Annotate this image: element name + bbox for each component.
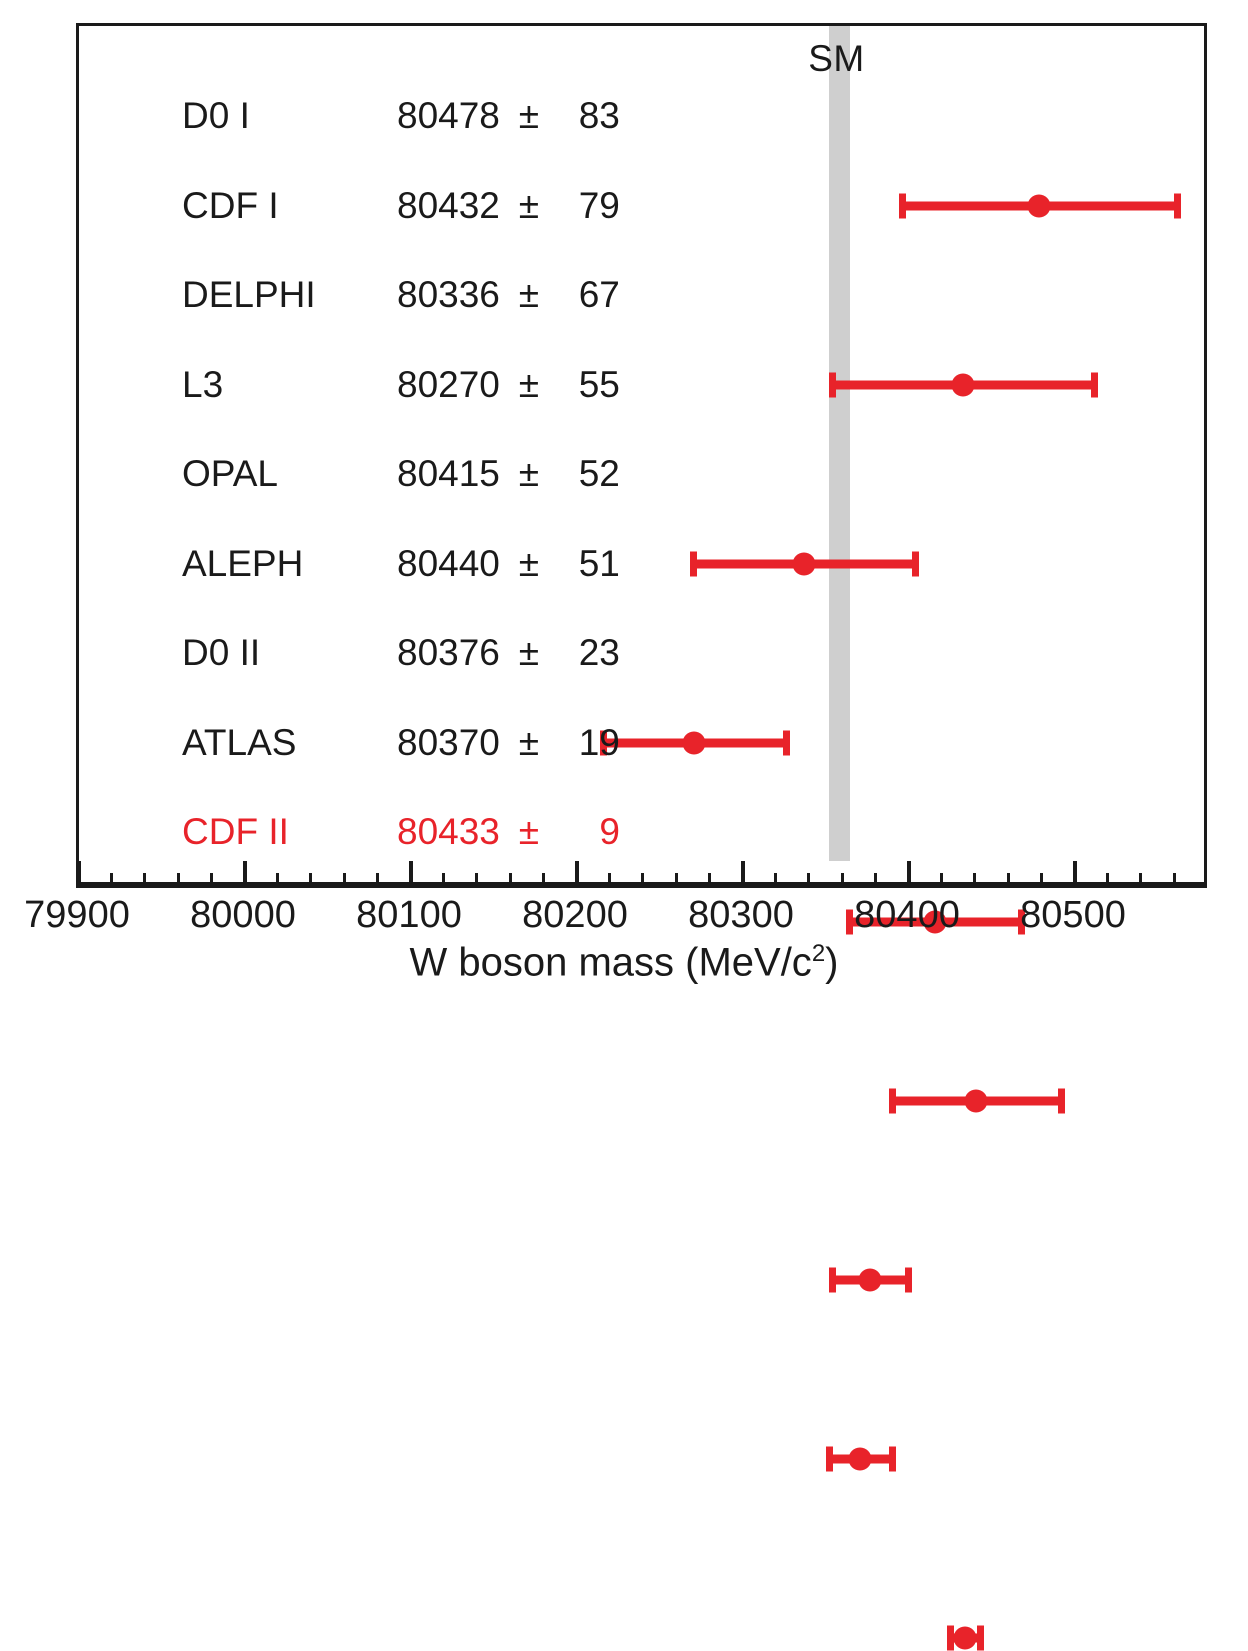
plus-minus-symbol: ± xyxy=(500,632,558,674)
error-bar-cap-left xyxy=(889,1089,896,1114)
error-bar-cap-right xyxy=(783,731,790,756)
x-tick-minor xyxy=(1007,873,1010,888)
x-tick-major xyxy=(575,861,579,888)
x-tick-minor xyxy=(210,873,213,888)
x-tick-label: 80300 xyxy=(688,894,794,937)
plus-minus-symbol: ± xyxy=(500,811,558,853)
x-tick-major xyxy=(1073,861,1077,888)
mass-value: 80432 xyxy=(397,185,500,226)
uncertainty-value: 83 xyxy=(558,95,620,137)
x-tick-minor xyxy=(774,873,777,888)
x-tick-label: 80400 xyxy=(854,894,960,937)
data-point-marker xyxy=(792,553,815,576)
x-tick-minor xyxy=(841,873,844,888)
data-point-marker xyxy=(965,1090,988,1113)
plus-minus-symbol: ± xyxy=(500,453,558,495)
x-tick-minor xyxy=(309,873,312,888)
x-tick-minor xyxy=(376,873,379,888)
x-tick-minor xyxy=(1139,873,1142,888)
x-tick-minor xyxy=(708,873,711,888)
mass-value: 80376 xyxy=(397,632,500,673)
x-tick-major xyxy=(77,861,81,888)
error-bar-cap-right xyxy=(1091,373,1098,398)
x-tick-label: 80000 xyxy=(190,894,296,937)
chart-root: D0 I80478±83CDF I80432±79DELPHI80336±67L… xyxy=(0,0,1248,1023)
measurement-value: 80440±51 xyxy=(397,543,620,585)
measurement-value: 80415±52 xyxy=(397,453,620,495)
data-point-marker xyxy=(952,374,975,397)
experiment-label: ALEPH xyxy=(182,543,303,585)
uncertainty-value: 19 xyxy=(558,722,620,764)
x-tick-minor xyxy=(874,873,877,888)
measurement-value: 80478±83 xyxy=(397,95,620,137)
experiment-label: CDF I xyxy=(182,185,279,227)
plus-minus-symbol: ± xyxy=(500,722,558,764)
x-tick-minor xyxy=(973,873,976,888)
x-tick-major xyxy=(243,861,247,888)
x-tick-minor xyxy=(675,873,678,888)
data-point-marker xyxy=(859,1269,882,1292)
x-tick-minor xyxy=(509,873,512,888)
experiment-label: ATLAS xyxy=(182,722,296,764)
x-tick-minor xyxy=(940,873,943,888)
mass-value: 80440 xyxy=(397,543,500,584)
sm-band-label: SM xyxy=(736,38,936,80)
data-point-marker xyxy=(1028,195,1051,218)
mass-value: 80478 xyxy=(397,95,500,136)
error-bar-cap-right xyxy=(977,1626,984,1651)
error-bar-cap-left xyxy=(899,194,906,219)
error-bar-cap-left xyxy=(829,373,836,398)
plus-minus-symbol: ± xyxy=(500,95,558,137)
error-bar-cap-left xyxy=(826,1447,833,1472)
x-tick-minor xyxy=(343,873,346,888)
measurement-value: 80432±79 xyxy=(397,185,620,227)
plus-minus-symbol: ± xyxy=(500,274,558,316)
experiment-label: D0 II xyxy=(182,632,260,674)
uncertainty-value: 55 xyxy=(558,364,620,406)
mass-value: 80370 xyxy=(397,722,500,763)
plus-minus-symbol: ± xyxy=(500,543,558,585)
sm-theory-band xyxy=(829,26,851,861)
x-tick-minor xyxy=(442,873,445,888)
x-tick-label: 80500 xyxy=(1020,894,1126,937)
measurement-value: 80376±23 xyxy=(397,632,620,674)
uncertainty-value: 67 xyxy=(558,274,620,316)
uncertainty-value: 79 xyxy=(558,185,620,227)
measurement-value: 80336±67 xyxy=(397,274,620,316)
x-tick-label: 80200 xyxy=(522,894,628,937)
x-tick-minor xyxy=(110,873,113,888)
x-tick-major xyxy=(741,861,745,888)
error-bar-cap-left xyxy=(829,1268,836,1293)
error-bar-cap-left xyxy=(846,910,853,935)
x-tick-minor xyxy=(807,873,810,888)
mass-value: 80336 xyxy=(397,274,500,315)
x-tick-minor xyxy=(641,873,644,888)
x-tick-minor xyxy=(1040,873,1043,888)
x-axis xyxy=(76,882,1207,888)
error-bar-cap-left xyxy=(690,552,697,577)
uncertainty-value: 23 xyxy=(558,632,620,674)
x-tick-label: 79900 xyxy=(24,894,130,937)
x-tick-minor xyxy=(608,873,611,888)
x-tick-minor xyxy=(276,873,279,888)
measurement-value: 80433±9 xyxy=(397,811,620,853)
data-point-marker xyxy=(953,1627,976,1650)
error-bar-cap-right xyxy=(912,552,919,577)
x-tick-minor xyxy=(542,873,545,888)
x-axis-title-superscript: 2 xyxy=(812,940,825,967)
experiment-label: DELPHI xyxy=(182,274,316,316)
plot-frame: D0 I80478±83CDF I80432±79DELPHI80336±67L… xyxy=(76,23,1207,885)
error-bar-cap-right xyxy=(905,1268,912,1293)
x-tick-minor xyxy=(475,873,478,888)
experiment-label: OPAL xyxy=(182,453,278,495)
x-tick-minor xyxy=(143,873,146,888)
measurement-value: 80370±19 xyxy=(397,722,620,764)
error-bar-cap-right xyxy=(1058,1089,1065,1114)
plus-minus-symbol: ± xyxy=(500,364,558,406)
experiment-label: D0 I xyxy=(182,95,250,137)
x-tick-minor xyxy=(1173,873,1176,888)
plus-minus-symbol: ± xyxy=(500,185,558,227)
mass-value: 80433 xyxy=(397,811,500,852)
x-tick-minor xyxy=(1106,873,1109,888)
x-tick-label: 80100 xyxy=(356,894,462,937)
x-axis-title-base: W boson mass (MeV/c xyxy=(409,940,811,984)
x-tick-minor xyxy=(177,873,180,888)
mass-value: 80415 xyxy=(397,453,500,494)
uncertainty-value: 9 xyxy=(558,811,620,853)
x-tick-major xyxy=(409,861,413,888)
uncertainty-value: 51 xyxy=(558,543,620,585)
error-bar-cap-right xyxy=(889,1447,896,1472)
x-axis-title: W boson mass (MeV/c2) xyxy=(0,940,1248,985)
data-point-marker xyxy=(849,1448,872,1471)
mass-value: 80270 xyxy=(397,364,500,405)
x-tick-major xyxy=(907,861,911,888)
measurement-value: 80270±55 xyxy=(397,364,620,406)
data-point-marker xyxy=(683,732,706,755)
uncertainty-value: 52 xyxy=(558,453,620,495)
experiment-label: CDF II xyxy=(182,811,289,853)
x-axis-title-tail: ) xyxy=(825,940,838,984)
experiment-label: L3 xyxy=(182,364,223,406)
error-bar-cap-right xyxy=(1174,194,1181,219)
